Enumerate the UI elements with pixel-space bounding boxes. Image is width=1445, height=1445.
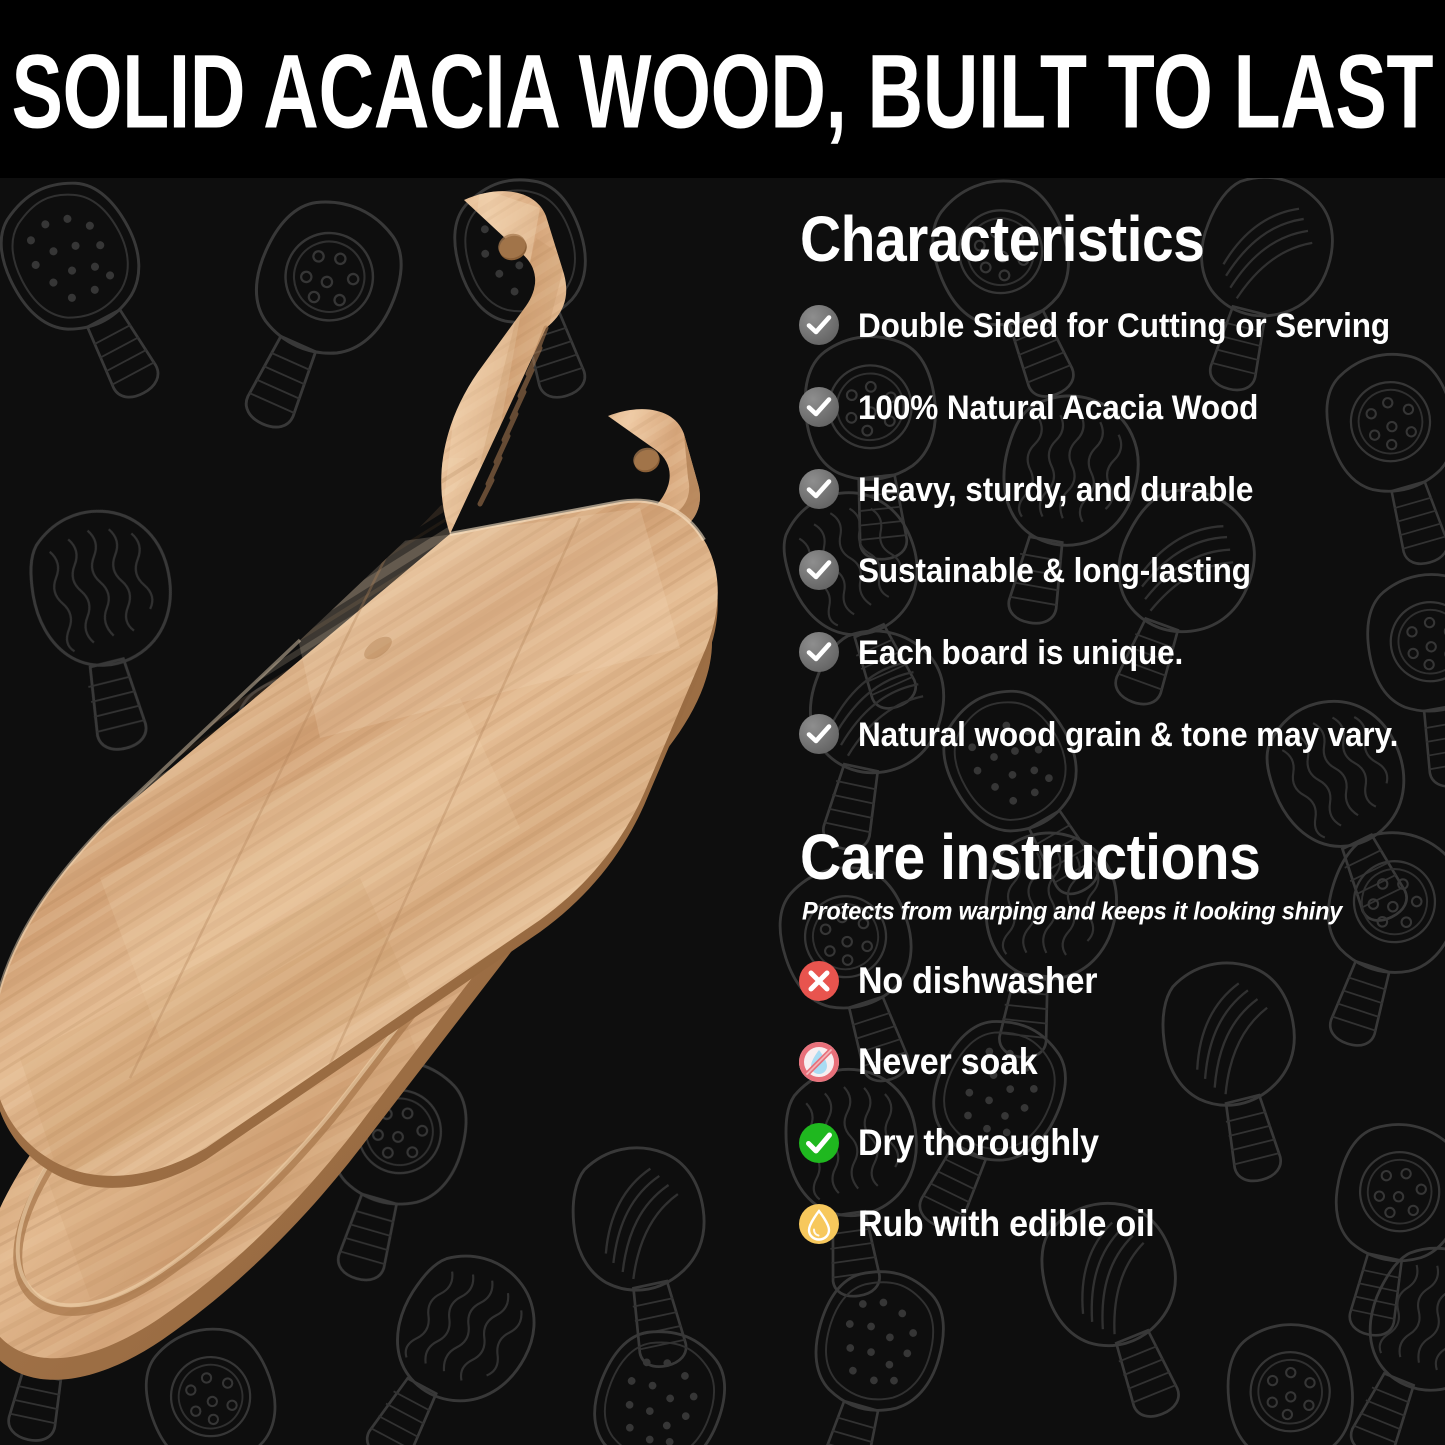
care-instructions-subtitle: Protects from warping and keeps it looki…	[802, 897, 1430, 925]
characteristic-label: Natural wood grain & tone may vary.	[858, 714, 1398, 754]
characteristic-item: Each board is unique.	[798, 629, 1183, 675]
page-title: SOLID ACACIA WOOD, BUILT TO LAST	[12, 39, 1434, 144]
green-check-icon	[798, 1122, 840, 1164]
oil-droplet-icon	[798, 1203, 840, 1245]
characteristic-label: Double Sided for Cutting or Serving	[858, 305, 1390, 345]
no-water-icon	[798, 1041, 840, 1083]
characteristic-item: Sustainable & long-lasting	[798, 547, 1251, 593]
care-label: Rub with edible oil	[858, 1203, 1155, 1246]
care-item: Dry thoroughly	[798, 1120, 1099, 1166]
red-x-icon	[798, 960, 840, 1002]
care-instructions-heading: Care instructions	[800, 827, 1260, 891]
check-icon	[798, 304, 840, 346]
product-infographic: Characteristics Double Sided for Cutting…	[0, 0, 1445, 1445]
product-image-acacia-cutting-boards	[0, 178, 800, 1445]
characteristic-item: Double Sided for Cutting or Serving	[798, 302, 1390, 348]
info-column: Characteristics Double Sided for Cutting…	[798, 196, 1438, 1416]
characteristic-item: Heavy, sturdy, and durable	[798, 466, 1253, 512]
care-label: No dishwasher	[858, 960, 1097, 1003]
check-icon	[798, 549, 840, 591]
characteristic-item: 100% Natural Acacia Wood	[798, 384, 1258, 430]
characteristic-label: Sustainable & long-lasting	[858, 550, 1251, 590]
check-icon	[798, 386, 840, 428]
characteristic-item: Natural wood grain & tone may vary.	[798, 711, 1398, 757]
characteristics-heading: Characteristics	[800, 209, 1204, 273]
check-icon	[798, 631, 840, 673]
care-label: Never soak	[858, 1041, 1037, 1084]
care-item: Rub with edible oil	[798, 1201, 1155, 1247]
characteristic-label: Heavy, sturdy, and durable	[858, 469, 1253, 509]
header-banner: SOLID ACACIA WOOD, BUILT TO LAST	[0, 0, 1445, 178]
characteristic-label: Each board is unique.	[858, 632, 1183, 672]
check-icon	[798, 713, 840, 755]
characteristic-label: 100% Natural Acacia Wood	[858, 387, 1258, 427]
care-item: No dishwasher	[798, 958, 1097, 1004]
care-item: Never soak	[798, 1039, 1037, 1085]
check-icon	[798, 468, 840, 510]
care-label: Dry thoroughly	[858, 1122, 1099, 1165]
